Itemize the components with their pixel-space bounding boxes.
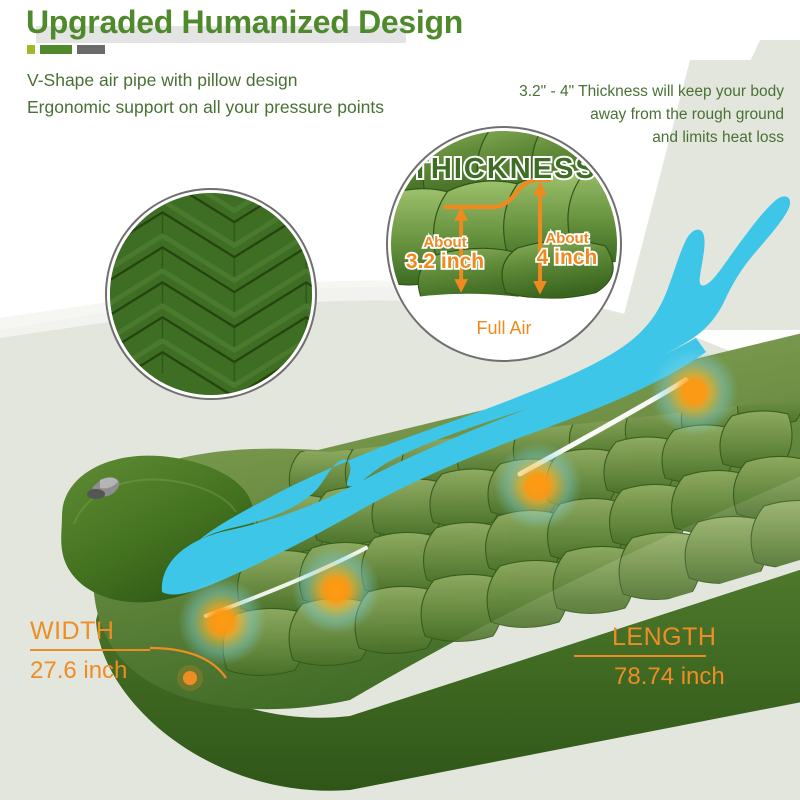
- length-title: LENGTH: [612, 622, 725, 652]
- thickness-label-left-prefix: About: [397, 235, 493, 251]
- rule-mark-small-square: [27, 45, 35, 54]
- subtitle-right-line-3: and limits heat loss: [519, 126, 784, 149]
- thickness-label-right-prefix: About: [519, 231, 615, 247]
- thickness-closeup-circle: THICKNESS About 3.2 inch About 4 inch Fu…: [388, 128, 620, 360]
- width-value: 27.6 inch: [30, 655, 150, 687]
- length-callout: LENGTH 78.74 inch: [612, 622, 725, 693]
- subtitle-left-line-2: Ergonomic support on all your pressure p…: [27, 94, 384, 121]
- pressure-points: [178, 348, 738, 666]
- length-value: 78.74 inch: [614, 661, 725, 693]
- pressure-point-3: [494, 442, 582, 530]
- title-text: Upgraded Humanized Design: [26, 2, 463, 42]
- thickness-label-right-value: 4 inch: [519, 247, 615, 269]
- title-rule-marks: [27, 45, 105, 54]
- pressure-point-2: [292, 546, 380, 634]
- subtitle-right-line-2: away from the rough ground: [519, 103, 784, 126]
- air-valve: [87, 477, 119, 499]
- width-underline: [30, 649, 150, 651]
- page-title: Upgraded Humanized Design: [26, 2, 463, 42]
- width-title: WIDTH: [30, 616, 150, 646]
- pillow: [61, 456, 254, 603]
- subtitle-right-line-1: 3.2" - 4" Thickness will keep your body: [519, 80, 784, 103]
- thickness-label-left-value: 3.2 inch: [397, 251, 493, 273]
- length-underline: [574, 655, 706, 657]
- thickness-heading: THICKNESS: [391, 153, 617, 186]
- width-callout: WIDTH 27.6 inch: [30, 616, 150, 687]
- pressure-point-4: [650, 348, 738, 436]
- pressure-point-1: [178, 578, 266, 666]
- thickness-label-left: About 3.2 inch: [397, 235, 493, 273]
- subtitle-left-line-1: V-Shape air pipe with pillow design: [27, 67, 384, 94]
- infographic-canvas: Upgraded Humanized Design V-Shape air pi…: [0, 0, 800, 800]
- rule-mark-gray-bar: [77, 45, 105, 54]
- chevron-texture: [110, 193, 312, 395]
- width-connector: [150, 648, 226, 691]
- v-shape-closeup-circle: [107, 190, 315, 398]
- sleeping-pad: [61, 330, 800, 791]
- subtitle-right: 3.2" - 4" Thickness will keep your body …: [519, 80, 784, 149]
- width-connector-dot: [183, 671, 197, 685]
- full-air-label: Full Air: [391, 318, 617, 339]
- top-right-wedge: [640, 40, 800, 300]
- rule-mark-green-bar: [40, 45, 72, 54]
- thickness-label-right: About 4 inch: [519, 231, 615, 269]
- subtitle-left: V-Shape air pipe with pillow design Ergo…: [27, 67, 384, 121]
